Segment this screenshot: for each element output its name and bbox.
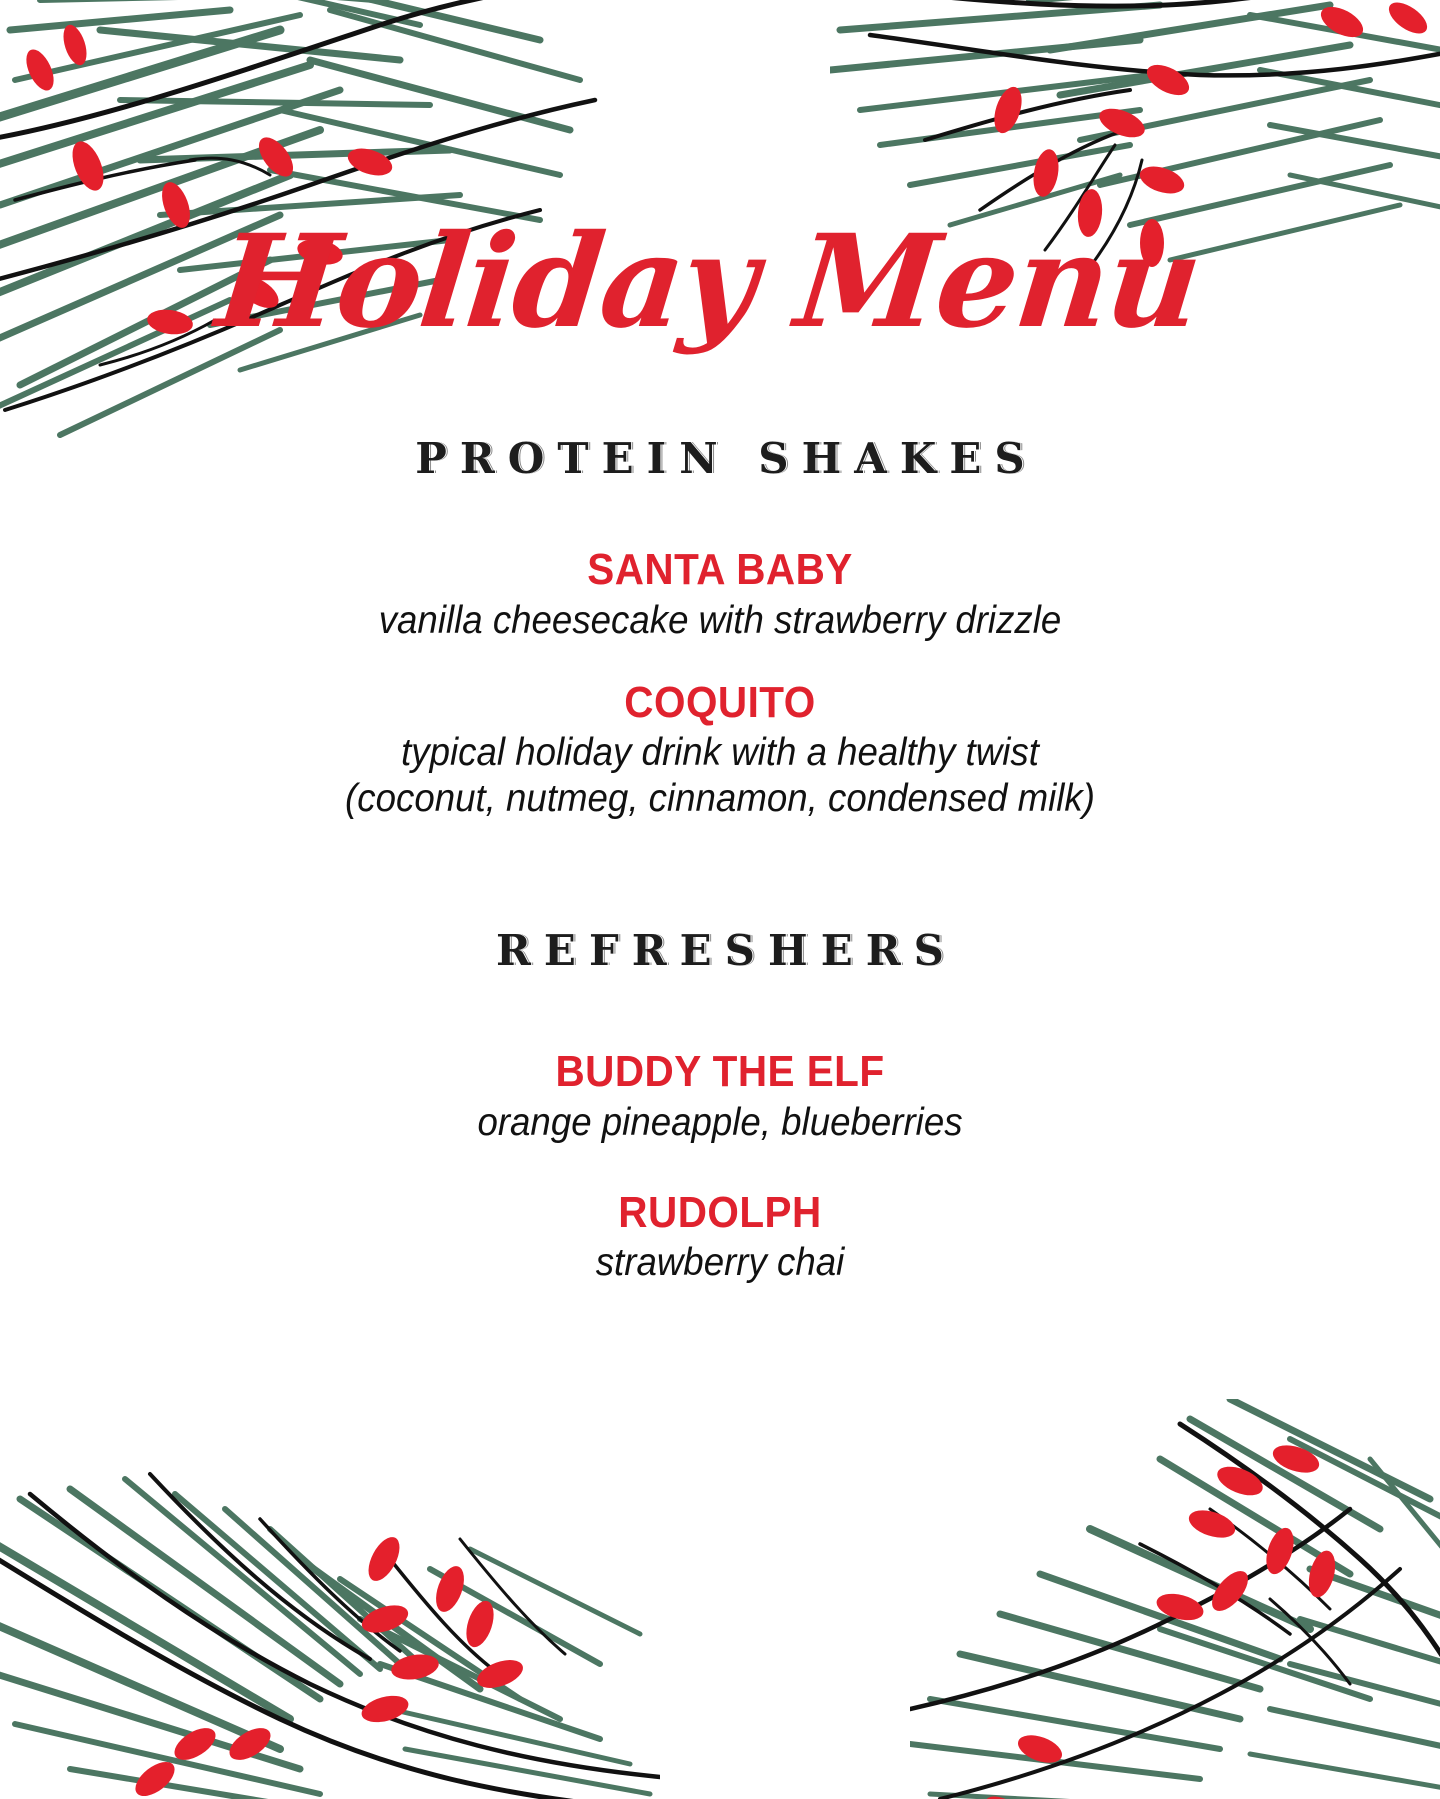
menu-content: Holiday Menu PROTEIN SHAKES SANTA BABY v…: [0, 0, 1440, 1286]
menu-item-description: orange pineapple, blueberries: [43, 1100, 1397, 1146]
menu-item-description-line: (coconut, nutmeg, cinnamon, condensed mi…: [43, 776, 1397, 822]
menu-item-coquito: COQUITO typical holiday drink with a hea…: [0, 678, 1440, 823]
menu-item-description-line: vanilla cheesecake with strawberry drizz…: [43, 598, 1397, 644]
menu-section-refreshers: REFRESHERS BUDDY THE ELF orange pineappl…: [0, 926, 1440, 1286]
menu-item-name: BUDDY THE ELF: [58, 1047, 1383, 1098]
menu-item-rudolph: RUDOLPH strawberry chai: [0, 1188, 1440, 1287]
menu-section-protein-shakes: PROTEIN SHAKES SANTA BABY vanilla cheese…: [0, 434, 1440, 822]
section-heading-refreshers: REFRESHERS: [0, 926, 1440, 975]
menu-item-description-line: typical holiday drink with a healthy twi…: [43, 730, 1397, 776]
menu-item-description: strawberry chai: [43, 1240, 1397, 1286]
menu-item-name: COQUITO: [58, 678, 1383, 729]
menu-item-description: typical holiday drink with a healthy twi…: [43, 730, 1397, 822]
menu-item-description-line: orange pineapple, blueberries: [43, 1100, 1397, 1146]
menu-page: Holiday Menu PROTEIN SHAKES SANTA BABY v…: [0, 0, 1440, 1799]
pine-branch-bottom-left-decoration: [0, 1419, 660, 1799]
menu-item-name: RUDOLPH: [58, 1188, 1383, 1239]
menu-item-description-line: strawberry chai: [43, 1240, 1397, 1286]
pine-branch-bottom-right-decoration: [910, 1399, 1440, 1799]
menu-item-buddy-the-elf: BUDDY THE ELF orange pineapple, blueberr…: [0, 1047, 1440, 1146]
page-title: Holiday Menu: [0, 0, 1440, 346]
menu-item-name: SANTA BABY: [58, 545, 1383, 596]
menu-item-description: vanilla cheesecake with strawberry drizz…: [43, 598, 1397, 644]
section-heading-protein-shakes: PROTEIN SHAKES: [0, 434, 1440, 483]
menu-item-santa-baby: SANTA BABY vanilla cheesecake with straw…: [0, 545, 1440, 644]
